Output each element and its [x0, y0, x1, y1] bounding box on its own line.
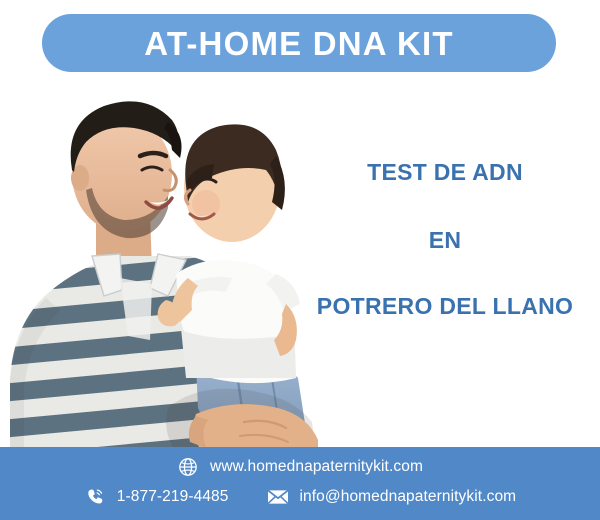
promo-flyer: AT-HOME DNA KIT — [0, 0, 600, 520]
family-photo — [0, 78, 330, 453]
phone-label: 1-877-219-4485 — [117, 488, 229, 506]
phone-contact[interactable]: 1-877-219-4485 — [84, 486, 229, 508]
banner-title: AT-HOME DNA KIT — [144, 27, 453, 60]
website-contact[interactable]: www.homednapaternitykit.com — [177, 456, 423, 478]
headline-line-3: POTRERO DEL LLANO — [300, 294, 590, 319]
footer-row-phone-email: 1-877-219-4485 info@homednapaternitykit.… — [0, 486, 600, 508]
globe-icon — [177, 456, 199, 478]
footer-row-website: www.homednapaternitykit.com — [0, 456, 600, 478]
footer-contact-bar: www.homednapaternitykit.com 1-877-219-44… — [0, 447, 600, 520]
email-contact[interactable]: info@homednapaternitykit.com — [267, 486, 517, 508]
phone-icon — [84, 486, 106, 508]
headline-block: TEST DE ADN EN POTRERO DEL LLANO — [300, 160, 590, 319]
envelope-icon — [267, 486, 289, 508]
headline-line-1: TEST DE ADN — [300, 160, 590, 185]
header-banner: AT-HOME DNA KIT — [42, 14, 556, 72]
email-label: info@homednapaternitykit.com — [300, 488, 517, 506]
headline-line-2: EN — [300, 228, 590, 253]
website-label: www.homednapaternitykit.com — [210, 458, 423, 476]
